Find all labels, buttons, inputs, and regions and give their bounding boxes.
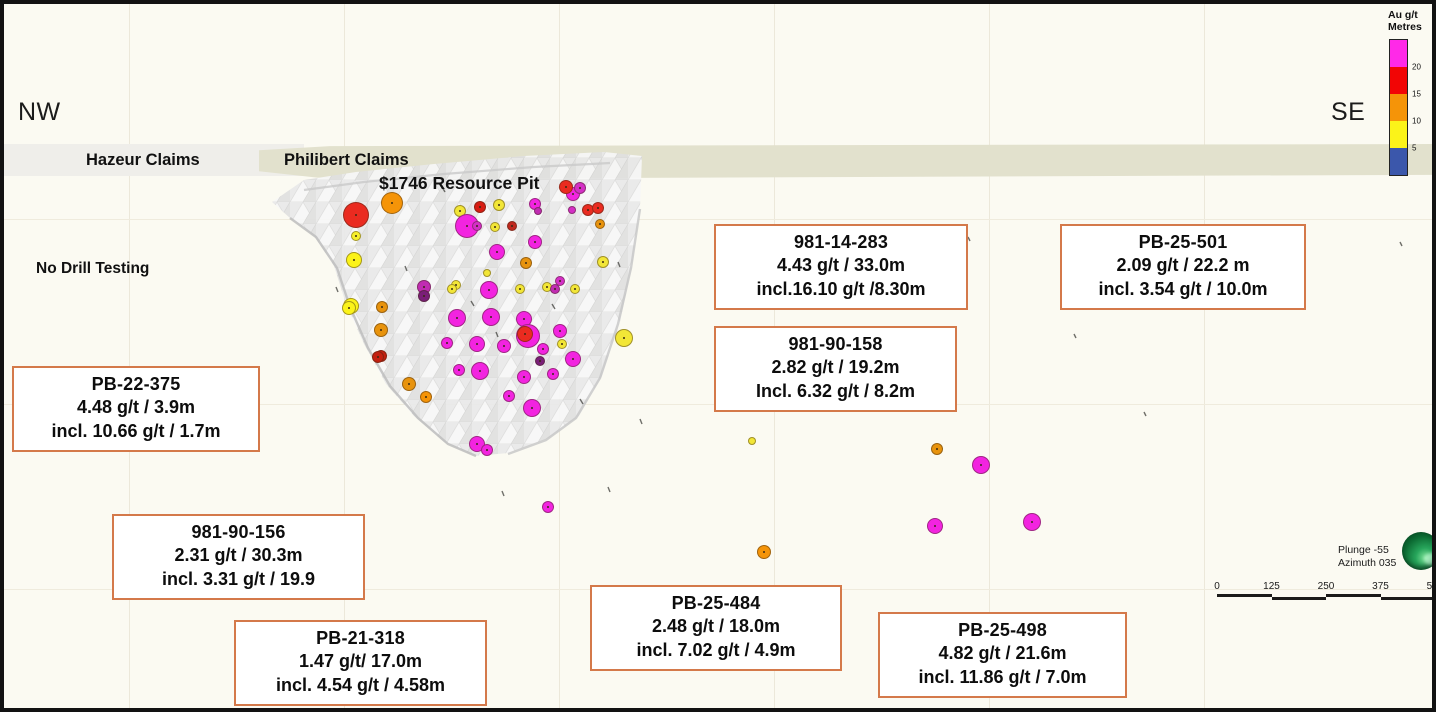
drill-intercept-dot (542, 501, 554, 513)
scale-bar: 0125250375500 (1217, 581, 1435, 600)
callout-hole-id: PB-25-484 (602, 592, 830, 615)
callout-grade: 2.09 g/t / 22.2 m (1072, 254, 1294, 277)
drill-intercept-dot (490, 222, 500, 232)
drill-intercept-dot (482, 308, 500, 326)
legend-tick-15: 15 (1412, 89, 1421, 98)
legend-segment-2 (1390, 94, 1407, 121)
philibert-claims-label: Philibert Claims (284, 151, 409, 170)
legend-tick-5: 5 (1412, 143, 1416, 152)
scale-tick-0: 0 (1214, 581, 1220, 592)
drill-intercept-dot (537, 343, 549, 355)
drill-intercept-dot (615, 329, 633, 347)
drill-intercept-dot (447, 284, 457, 294)
drill-intercept-dot (1023, 513, 1041, 531)
drill-intercept-dot (517, 326, 533, 342)
direction-label-se: SE (1331, 98, 1365, 127)
legend-segment-1 (1390, 67, 1407, 94)
legend-tick-10: 10 (1412, 116, 1421, 125)
long-section-figure: NW SE Hazeur Claims Philibert Claims $17… (0, 0, 1436, 712)
drill-intercept-dot (597, 256, 609, 268)
drill-intercept-dot (557, 339, 567, 349)
callout-pb-25-484[interactable]: PB-25-4842.48 g/t / 18.0mincl. 7.02 g/t … (590, 585, 842, 671)
callout-981-90-156[interactable]: 981-90-1562.31 g/t / 30.3mincl. 3.31 g/t… (112, 514, 365, 600)
callout-grade: 2.31 g/t / 30.3m (124, 544, 353, 567)
azimuth-label: Azimuth 035 (1338, 557, 1396, 570)
drill-intercept-dot (515, 284, 525, 294)
drill-intercept-dot (559, 180, 573, 194)
callout-grade: 4.43 g/t / 33.0m (726, 254, 956, 277)
drill-intercept-dot (535, 356, 545, 366)
orientation-readout: Plunge -55 Azimuth 035 (1338, 544, 1396, 570)
resource-pit-label: $1746 Resource Pit (379, 173, 540, 194)
drill-intercept-dot (448, 309, 466, 327)
scale-segment-1 (1272, 597, 1327, 600)
drill-intercept-dot (474, 201, 486, 213)
drill-intercept-dot (931, 443, 943, 455)
callout-pb-21-318[interactable]: PB-21-3181.47 g/t/ 17.0mincl. 4.54 g/t /… (234, 620, 487, 706)
drill-intercept-dot (507, 221, 517, 231)
callout-hole-id: 981-90-156 (124, 521, 353, 544)
colour-legend: Au g/t Metres 2015105 (1386, 10, 1430, 176)
callout-included-interval: incl.16.10 g/t /8.30m (726, 278, 956, 301)
drill-intercept-dot (574, 182, 586, 194)
drill-intercept-dot (441, 337, 453, 349)
drill-intercept-dot (520, 257, 532, 269)
callout-hole-id: PB-22-375 (24, 373, 248, 396)
legend-segment-0 (1390, 40, 1407, 67)
callout-grade: 1.47 g/t/ 17.0m (246, 650, 475, 673)
legend-title-line1: Au g/t (1388, 10, 1430, 22)
plunge-label: Plunge -55 (1338, 544, 1396, 557)
drill-intercept-dot (471, 362, 489, 380)
drill-intercept-dot (570, 284, 580, 294)
callout-grade: 2.48 g/t / 18.0m (602, 615, 830, 638)
drill-intercept-dot (528, 235, 542, 249)
drill-intercept-dot (472, 221, 482, 231)
drill-intercept-dot (374, 323, 388, 337)
callout-included-interval: incl. 4.54 g/t / 4.58m (246, 674, 475, 697)
drill-intercept-dot (351, 231, 361, 241)
callout-included-interval: incl. 3.54 g/t / 10.0m (1072, 278, 1294, 301)
drill-intercept-dot (480, 281, 498, 299)
no-drill-testing-label: No Drill Testing (36, 260, 149, 278)
callout-hole-id: PB-25-498 (890, 619, 1115, 642)
drill-intercept-dot (565, 351, 581, 367)
callout-981-90-158[interactable]: 981-90-1582.82 g/t / 19.2mIncl. 6.32 g/t… (714, 326, 957, 412)
scale-tick-250: 250 (1318, 581, 1335, 592)
drill-intercept-dot (469, 336, 485, 352)
drill-intercept-dot (489, 244, 505, 260)
callout-pb-25-498[interactable]: PB-25-4984.82 g/t / 21.6mincl. 11.86 g/t… (878, 612, 1127, 698)
scale-bar-segments (1217, 594, 1435, 600)
scale-segment-3 (1381, 597, 1436, 600)
legend-segment-4 (1390, 148, 1407, 175)
drill-intercept-dot (592, 202, 604, 214)
callout-included-interval: incl. 10.66 g/t / 1.7m (24, 420, 248, 443)
drill-intercept-dot (547, 368, 559, 380)
legend-title-line2: Metres (1388, 22, 1430, 34)
legend-colour-bar: 2015105 (1389, 39, 1408, 176)
scale-tick-125: 125 (1263, 581, 1280, 592)
callout-grade: 4.82 g/t / 21.6m (890, 642, 1115, 665)
drill-intercept-dot (483, 269, 491, 277)
callout-hole-id: 981-90-158 (726, 333, 945, 356)
compass-ball-icon (1402, 532, 1436, 570)
drill-intercept-dot (748, 437, 756, 445)
scale-tick-375: 375 (1372, 581, 1389, 592)
callout-981-14-283[interactable]: 981-14-2834.43 g/t / 33.0mincl.16.10 g/t… (714, 224, 968, 310)
drill-intercept-dot (346, 252, 362, 268)
callout-hole-id: PB-21-318 (246, 627, 475, 650)
drill-intercept-dot (376, 301, 388, 313)
callout-pb-22-375[interactable]: PB-22-3754.48 g/t / 3.9mincl. 10.66 g/t … (12, 366, 260, 452)
scale-segment-2 (1326, 594, 1381, 597)
drill-intercept-dot (972, 456, 990, 474)
scale-segment-0 (1217, 594, 1272, 597)
drill-intercept-dot (927, 518, 943, 534)
drill-intercept-dot (402, 377, 416, 391)
callout-hole-id: 981-14-283 (726, 231, 956, 254)
drill-intercept-dot (381, 192, 403, 214)
drill-intercept-dot (372, 351, 384, 363)
legend-tick-20: 20 (1412, 62, 1421, 71)
section-canvas: NW SE Hazeur Claims Philibert Claims $17… (4, 4, 1432, 708)
drill-intercept-dot (757, 545, 771, 559)
drill-intercept-dot (497, 339, 511, 353)
drill-intercept-dot (342, 301, 356, 315)
callout-grade: 2.82 g/t / 19.2m (726, 356, 945, 379)
drill-intercept-dot (493, 199, 505, 211)
drill-intercept-dot (534, 207, 542, 215)
drill-intercept-dot (595, 219, 605, 229)
drill-intercept-dot (517, 370, 531, 384)
callout-included-interval: incl. 11.86 g/t / 7.0m (890, 666, 1115, 689)
direction-label-nw: NW (18, 98, 60, 127)
callout-grade: 4.48 g/t / 3.9m (24, 396, 248, 419)
legend-segment-3 (1390, 121, 1407, 148)
scale-tick-500: 500 (1427, 581, 1436, 592)
callout-hole-id: PB-25-501 (1072, 231, 1294, 254)
drill-intercept-dot (568, 206, 576, 214)
drill-intercept-dot (343, 202, 369, 228)
drill-intercept-dot (503, 390, 515, 402)
callout-included-interval: incl. 3.31 g/t / 19.9 (124, 568, 353, 591)
drill-intercept-dot (481, 444, 493, 456)
drill-intercept-dot (420, 391, 432, 403)
scale-bar-labels: 0125250375500 (1217, 581, 1435, 594)
drill-intercept-dot (418, 290, 430, 302)
callout-pb-25-501[interactable]: PB-25-5012.09 g/t / 22.2 mincl. 3.54 g/t… (1060, 224, 1306, 310)
hazeur-claims-label: Hazeur Claims (86, 151, 200, 170)
drill-intercept-dot (553, 324, 567, 338)
drill-intercept-dot (453, 364, 465, 376)
callout-included-interval: Incl. 6.32 g/t / 8.2m (726, 380, 945, 403)
drill-intercept-dot (523, 399, 541, 417)
drill-intercept-dot (550, 284, 560, 294)
callout-included-interval: incl. 7.02 g/t / 4.9m (602, 639, 830, 662)
